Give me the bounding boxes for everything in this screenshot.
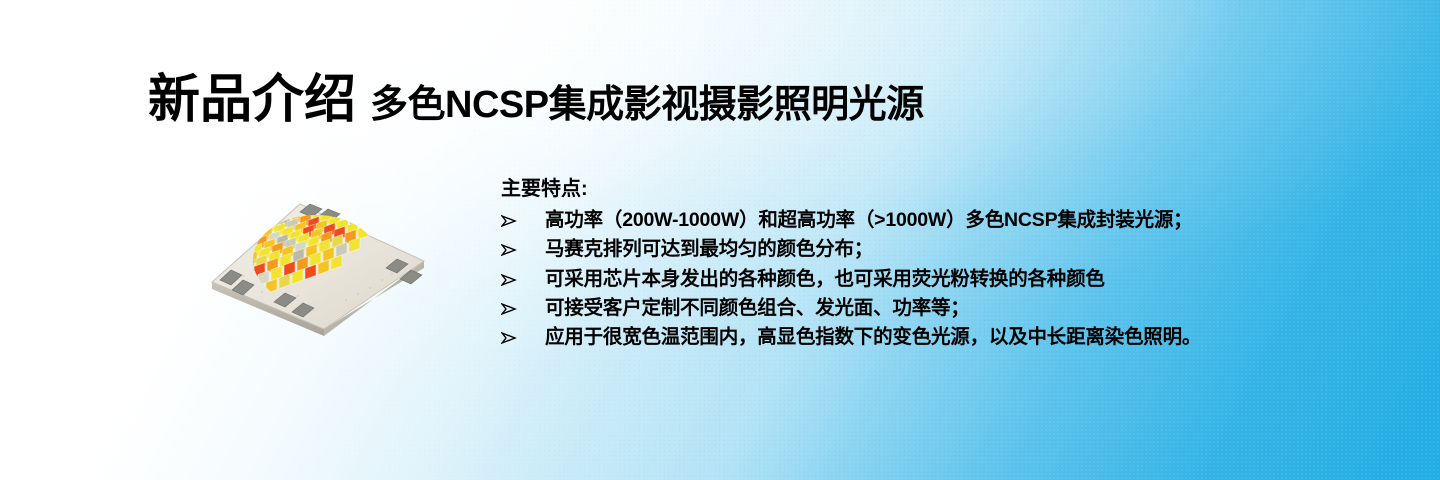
list-item: 马赛克排列可达到最均匀的颜色分布；	[501, 235, 1201, 264]
arrow-bullet-icon	[501, 206, 545, 227]
list-item: 高功率（200W-1000W）和超高功率（>1000W）多色NCSP集成封装光源…	[501, 206, 1201, 235]
list-item: 可接受客户定制不同颜色组合、发光面、功率等；	[501, 294, 1201, 323]
list-item-label: 应用于很宽色温范围内，高显色指数下的变色光源，以及中长距离染色照明。	[545, 323, 1201, 352]
ncsp-cob-led-module-image	[196, 176, 432, 356]
list-item-label: 可接受客户定制不同颜色组合、发光面、功率等；	[545, 294, 970, 323]
features-block: 主要特点: 高功率（200W-1000W）和超高功率（>1000W）多色NCSP…	[501, 176, 1201, 352]
page-title-main: 新品介绍	[148, 74, 356, 126]
list-item: 应用于很宽色温范围内，高显色指数下的变色光源，以及中长距离染色照明。	[501, 323, 1201, 352]
list-item: 可采用芯片本身发出的各种颜色，也可采用荧光粉转换的各种颜色	[501, 265, 1201, 294]
arrow-bullet-icon	[501, 323, 545, 344]
page-title-sub: 多色NCSP集成影视摄影照明光源	[370, 86, 924, 124]
page-title: 新品介绍 多色NCSP集成影视摄影照明光源	[148, 74, 924, 126]
arrow-bullet-icon	[501, 265, 545, 286]
list-item-label: 高功率（200W-1000W）和超高功率（>1000W）多色NCSP集成封装光源…	[545, 206, 1192, 235]
features-title: 主要特点:	[501, 176, 1201, 203]
list-item-label: 可采用芯片本身发出的各种颜色，也可采用荧光粉转换的各种颜色	[545, 265, 1105, 294]
arrow-bullet-icon	[501, 235, 545, 256]
list-item-label: 马赛克排列可达到最均匀的颜色分布；	[545, 235, 873, 264]
features-list: 高功率（200W-1000W）和超高功率（>1000W）多色NCSP集成封装光源…	[501, 206, 1201, 352]
arrow-bullet-icon	[501, 294, 545, 315]
slide-canvas: 新品介绍 多色NCSP集成影视摄影照明光源	[0, 0, 1440, 480]
